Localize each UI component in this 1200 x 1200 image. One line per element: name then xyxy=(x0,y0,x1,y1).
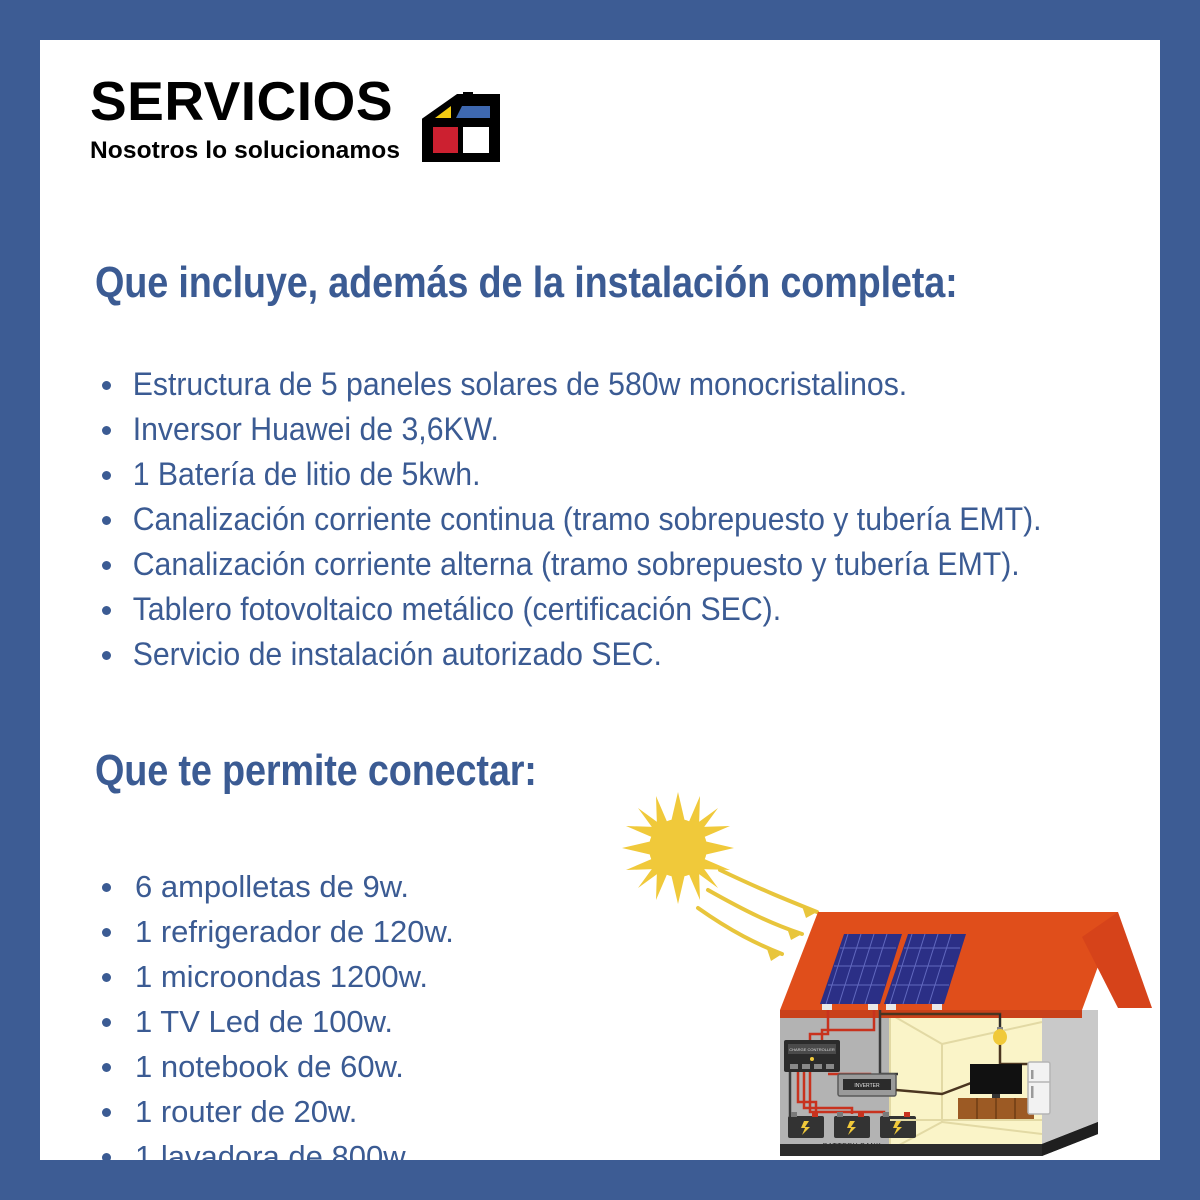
list-item: 1 microondas 1200w. xyxy=(102,954,622,999)
brand-tagline: Nosotros lo solucionamos xyxy=(90,137,400,165)
bullet-icon xyxy=(102,1018,111,1027)
list-item: Canalización corriente continua (tramo s… xyxy=(102,497,1142,542)
charge-controller: CHARGE CONTROLLER xyxy=(784,1040,840,1072)
sun-ray-arrows xyxy=(698,870,817,954)
list-item-label: 1 TV Led de 100w. xyxy=(102,999,393,1044)
list-item-label: 1 router de 20w. xyxy=(102,1089,357,1134)
brand-logo: SERVICIOS Nosotros lo solucionamos xyxy=(90,74,500,167)
poster-root: SERVICIOS Nosotros lo solucionamos xyxy=(0,0,1200,1200)
list-item: 1 notebook de 60w. xyxy=(102,1044,622,1089)
charge-controller-label: CHARGE CONTROLLER xyxy=(789,1047,835,1052)
battery-bank-label: BATTERY BANK xyxy=(823,1143,882,1150)
bullet-icon xyxy=(102,1108,111,1117)
feature-list-includes: Estructura de 5 paneles solares de 580w … xyxy=(102,362,1142,677)
bullet-icon xyxy=(102,1063,111,1072)
list-item: 6 ampolletas de 9w. xyxy=(102,864,622,909)
list-item: 1 TV Led de 100w. xyxy=(102,999,622,1044)
list-item-label: 6 ampolletas de 9w. xyxy=(102,864,409,909)
list-item: 1 refrigerador de 120w. xyxy=(102,909,622,954)
list-item: Inversor Huawei de 3,6KW. xyxy=(102,407,1142,452)
brand-text-block: SERVICIOS Nosotros lo solucionamos xyxy=(90,74,400,165)
section-heading-includes: Que incluye, además de la instalación co… xyxy=(95,258,958,308)
house-icon xyxy=(422,92,500,167)
bullet-icon xyxy=(102,1153,111,1161)
television xyxy=(970,1064,1022,1098)
list-item: Canalización corriente alterna (tramo so… xyxy=(102,542,1142,587)
list-item-label: Canalización corriente continua (tramo s… xyxy=(102,497,1042,542)
list-item: 1 lavadora de 800w. xyxy=(102,1134,622,1160)
inverter: INVERTER xyxy=(838,1074,896,1096)
bullet-icon xyxy=(102,883,111,892)
list-item-label: 1 refrigerador de 120w. xyxy=(102,909,454,954)
list-item: 1 router de 20w. xyxy=(102,1089,622,1134)
list-item-label: Canalización corriente alterna (tramo so… xyxy=(102,542,1020,587)
bullet-icon xyxy=(102,928,111,937)
brand-title: SERVICIOS xyxy=(90,74,400,129)
list-item: Tablero fotovoltaico metálico (certifica… xyxy=(102,587,1142,632)
inverter-label: INVERTER xyxy=(854,1083,880,1089)
list-item-label: Inversor Huawei de 3,6KW. xyxy=(102,407,499,452)
sun-icon xyxy=(622,792,734,904)
list-item: Estructura de 5 paneles solares de 580w … xyxy=(102,362,1142,407)
list-item-label: 1 lavadora de 800w. xyxy=(102,1134,413,1160)
list-item-label: Servicio de instalación autorizado SEC. xyxy=(102,632,662,677)
list-item-label: 1 microondas 1200w. xyxy=(102,954,428,999)
list-item-label: 1 Batería de litio de 5kwh. xyxy=(102,452,480,497)
list-item-label: 1 notebook de 60w. xyxy=(102,1044,404,1089)
list-item-label: Tablero fotovoltaico metálico (certifica… xyxy=(102,587,781,632)
list-item-label: Estructura de 5 paneles solares de 580w … xyxy=(102,362,907,407)
solar-house-illustration: CHARGE CONTROLLER INVERTER xyxy=(612,782,1152,1160)
list-item: Servicio de instalación autorizado SEC. xyxy=(102,632,1142,677)
refrigerator xyxy=(1028,1062,1050,1114)
tv-cabinet xyxy=(958,1098,1034,1120)
feature-list-connect: 6 ampolletas de 9w. 1 refrigerador de 12… xyxy=(102,864,622,1160)
bullet-icon xyxy=(102,973,111,982)
section-heading-connect: Que te permite conectar: xyxy=(95,746,537,796)
poster-card: SERVICIOS Nosotros lo solucionamos xyxy=(40,40,1160,1160)
list-item: 1 Batería de litio de 5kwh. xyxy=(102,452,1142,497)
